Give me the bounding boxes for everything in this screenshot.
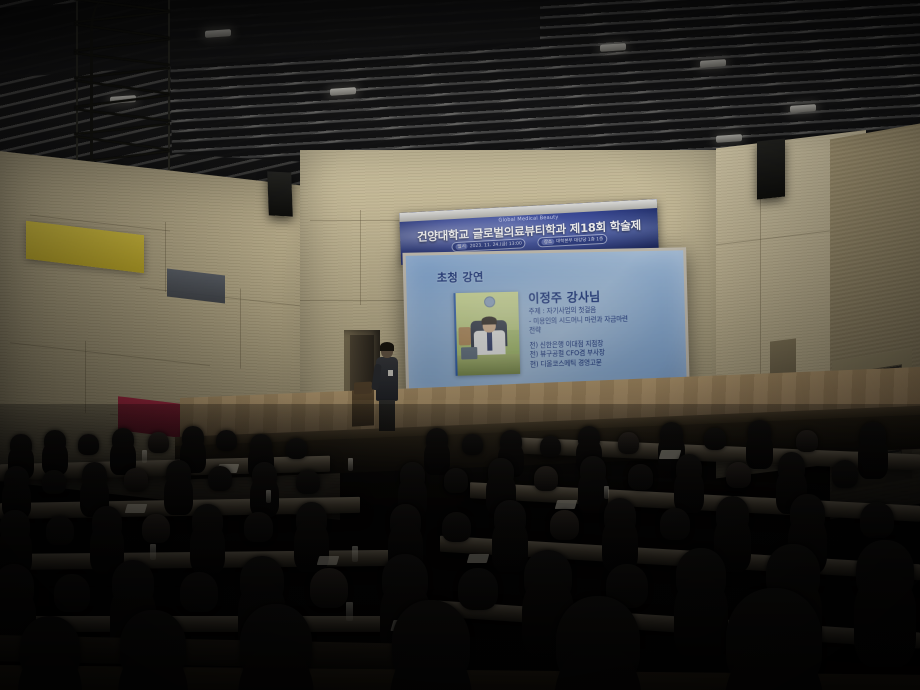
audience-head: [444, 468, 468, 493]
audience-head: [42, 470, 66, 494]
audience-head: [180, 572, 218, 612]
auditorium-scene: Global Medical Beauty 건양대학교 글로벌의료뷰티학과 제1…: [0, 0, 920, 690]
audience-head: [540, 436, 561, 457]
audience-head: [10, 434, 32, 456]
table-row: [420, 599, 920, 648]
audience-head: [112, 428, 134, 451]
audience-head: [832, 460, 858, 488]
audience-head: [556, 596, 640, 688]
audience-head: [310, 568, 348, 608]
water-bottle: [142, 450, 147, 463]
audience-head: [20, 616, 80, 682]
audience-head: [660, 422, 683, 446]
photo-monitor: [461, 347, 478, 360]
audience-head: [4, 466, 29, 492]
badge-value: 2023. 11. 24.(금) 13:00: [470, 240, 522, 249]
presenter-name-badge: [388, 370, 393, 376]
audience-head: [286, 438, 307, 459]
handout-paper: [659, 450, 682, 459]
audience-head: [124, 468, 148, 492]
slide-section-title: 초청 강연: [437, 268, 484, 285]
handout-paper: [467, 554, 490, 563]
audience-head: [790, 494, 825, 533]
slide-speaker-name: 이정주 강사님: [528, 288, 601, 307]
photo-necktie: [487, 330, 493, 350]
audience-head: [120, 610, 186, 682]
audience-head: [296, 502, 327, 536]
badge-value: 대학본부 대강당 1층 1층: [556, 236, 603, 245]
audience-head: [78, 434, 99, 455]
audience-head: [860, 502, 894, 538]
water-bottle: [150, 544, 156, 560]
audience-head: [704, 428, 726, 450]
audience-head: [44, 430, 66, 452]
audience-head: [426, 428, 448, 451]
audience-head: [192, 504, 223, 538]
audience-head: [82, 462, 107, 489]
badge-key: 장소: [542, 239, 554, 246]
audience-head: [534, 466, 558, 491]
audience-head: [390, 504, 421, 538]
photo-hair: [481, 316, 496, 324]
audience-head: [252, 462, 277, 489]
audience-head: [604, 498, 636, 534]
audience-head: [578, 426, 600, 449]
audience-area: [0, 404, 920, 690]
audience-head: [92, 506, 122, 539]
audience-head: [676, 548, 726, 602]
audience-head: [382, 554, 428, 604]
audience-head: [856, 540, 914, 602]
audience-head: [716, 496, 749, 533]
audience-head: [46, 516, 74, 545]
badge-key: 일시: [455, 243, 467, 250]
audience-head: [240, 556, 284, 604]
audience-head: [0, 564, 34, 608]
audience-head: [250, 434, 272, 456]
audience-head: [494, 500, 526, 535]
water-bottle: [348, 458, 353, 471]
audience-head: [524, 550, 572, 602]
handout-paper: [555, 500, 578, 509]
audience-head: [660, 508, 690, 540]
water-bottle: [266, 490, 271, 503]
audience-head: [726, 462, 751, 488]
photo-plant-pot: [458, 327, 471, 345]
audience-head: [442, 512, 471, 542]
audience-head: [726, 588, 822, 690]
handout-paper: [125, 504, 148, 513]
presenter-hair: [380, 342, 394, 351]
handout-paper: [317, 556, 340, 565]
audience-head: [216, 430, 237, 451]
audience-head: [778, 452, 805, 482]
audience-head: [142, 514, 170, 543]
audience-head: [148, 432, 169, 453]
audience-head: [166, 460, 191, 487]
audience-head: [796, 430, 818, 452]
audience-head: [54, 574, 90, 612]
audience-head: [618, 432, 639, 454]
audience-head: [500, 430, 522, 453]
audience-head: [0, 510, 30, 542]
audience-head: [244, 512, 273, 542]
audience-head: [400, 462, 425, 489]
water-bottle: [346, 602, 353, 621]
audience-head: [628, 464, 653, 490]
water-bottle: [604, 486, 609, 499]
audience-head: [182, 426, 204, 449]
audience-head: [860, 422, 886, 450]
audience-head: [208, 466, 232, 491]
audience-head: [580, 456, 606, 484]
audience-head: [112, 560, 154, 606]
audience-head: [458, 568, 498, 610]
slide-speaker-photo: [453, 292, 520, 376]
ceiling-speaker-left-icon: [267, 171, 293, 216]
audience-head: [488, 458, 514, 486]
audience-head: [392, 600, 470, 686]
audience-head: [550, 510, 579, 540]
audience-head: [296, 470, 320, 494]
audience-head: [462, 434, 483, 455]
slide-body-text: 주제 : 자기사업의 첫걸음 - 미용인의 시드머니 마련과 자금마련 전략 전…: [529, 304, 687, 370]
water-bottle: [352, 546, 358, 562]
audience-head: [676, 454, 702, 483]
ceiling-speaker-right-icon: [757, 139, 785, 200]
audience-head: [748, 420, 771, 444]
audience-head: [240, 604, 312, 684]
